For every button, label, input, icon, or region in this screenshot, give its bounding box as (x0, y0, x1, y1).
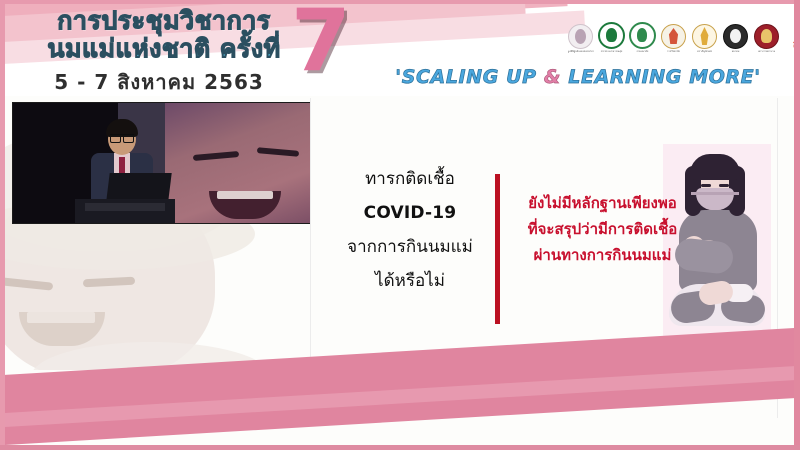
conference-header-banner: การประชุมวิชาการ นมแม่แห่งชาติ ครั้งที่ … (5, 4, 794, 96)
organization-logo-6: สมาคม (723, 24, 748, 53)
photo-laptop (106, 173, 171, 201)
watermark-teeth (27, 312, 95, 323)
logo-royal-patronage-icon (568, 24, 593, 49)
answer-line-2: ที่จะสรุปว่ามีการติดเชื้อ (505, 216, 700, 242)
photo-podium-panel (85, 203, 165, 211)
slide-content-area: ทารกติดเชื้อ COVID-19 จากการกินนมแม่ ได้… (5, 96, 794, 445)
logo-ministry-public-health-icon (598, 22, 625, 49)
edition-number: 7 (291, 4, 351, 84)
question-line-3: จากการกินนมแม่ (325, 230, 495, 264)
answer-line-3: ผ่านทางการกินนมแม่ (505, 242, 700, 268)
frame-border-bottom (0, 445, 800, 450)
logo-red-emblem-icon (754, 24, 779, 49)
frame-border-right (794, 0, 800, 450)
logo-caption-4: ราชวิทยาลัย (661, 50, 687, 53)
red-vertical-divider (495, 174, 500, 324)
logo-royal-college-icon (661, 24, 686, 49)
illustration-eye-right (719, 184, 729, 187)
illustration-eye-left (701, 184, 711, 187)
logo-caption-7: สภาการพยาบาล (754, 50, 780, 53)
logo-caption-1: มูลนิธิศูนย์นมแม่แห่งประเทศไทย (568, 50, 594, 53)
conference-title-line-1: การประชุมวิชาการ (57, 6, 270, 35)
question-line-4: ได้หรือไม่ (325, 264, 495, 298)
organization-logo-1: มูลนิธิศูนย์นมแม่แห่งประเทศไทย (568, 24, 593, 53)
logo-health-department-icon (629, 22, 656, 49)
thaihealth-mark: สสส (793, 39, 794, 50)
answer-line-1: ยังไม่มีหลักฐานเพียงพอ (505, 190, 700, 216)
tagline-part-1: 'SCALING UP (395, 66, 544, 88)
conference-date: 5 - 7 สิงหาคม 2563 (19, 66, 299, 96)
logo-caption-2: กระทรวงสาธารณสุข (599, 50, 625, 53)
organization-logo-3: กรมอนามัย (630, 22, 655, 53)
presentation-slide: การประชุมวิชาการ นมแม่แห่งชาติ ครั้งที่ … (0, 0, 800, 450)
organization-logo-2: กระทรวงสาธารณสุข (599, 22, 624, 53)
speaker-at-podium-photo (12, 102, 311, 224)
tagline-part-2: LEARNING MORE' (561, 66, 761, 88)
logo-caption-5: ตราสัญลักษณ์ (692, 50, 718, 53)
organization-logo-4: ราชวิทยาลัย (661, 24, 686, 53)
question-line-2: COVID-19 (325, 196, 495, 230)
conference-thai-title: การประชุมวิชาการ นมแม่แห่งชาติ ครั้งที่ (19, 6, 309, 63)
photo-speaker-glasses-icon (110, 134, 134, 141)
tagline-ampersand: & (544, 66, 561, 88)
question-text-block: ทารกติดเชื้อ COVID-19 จากการกินนมแม่ ได้… (325, 162, 495, 298)
logo-black-emblem-icon (723, 24, 748, 49)
thaihealth-logo: • • • สสส ThaiHealth (787, 34, 794, 53)
question-line-1: ทารกติดเชื้อ (325, 162, 495, 196)
logo-royal-emblem-icon (692, 24, 717, 49)
answer-text-block: ยังไม่มีหลักฐานเพียงพอ ที่จะสรุปว่ามีการ… (505, 190, 700, 268)
partner-logos-strip: มูลนิธิศูนย์นมแม่แห่งประเทศไทย กระทรวงสา… (568, 22, 794, 53)
conference-title-line-2: นมแม่แห่งชาติ ครั้งที่ (19, 34, 309, 63)
organization-logo-5: ตราสัญลักษณ์ (692, 24, 717, 53)
logo-caption-3: กรมอนามัย (630, 50, 656, 53)
photo-baby-teeth (217, 191, 273, 199)
logo-caption-6: สมาคม (723, 50, 749, 53)
organization-logo-7: สภาการพยาบาล (754, 24, 779, 53)
illustration-hair-top (690, 154, 740, 180)
conference-english-tagline: 'SCALING UP & LEARNING MORE' (363, 66, 793, 88)
